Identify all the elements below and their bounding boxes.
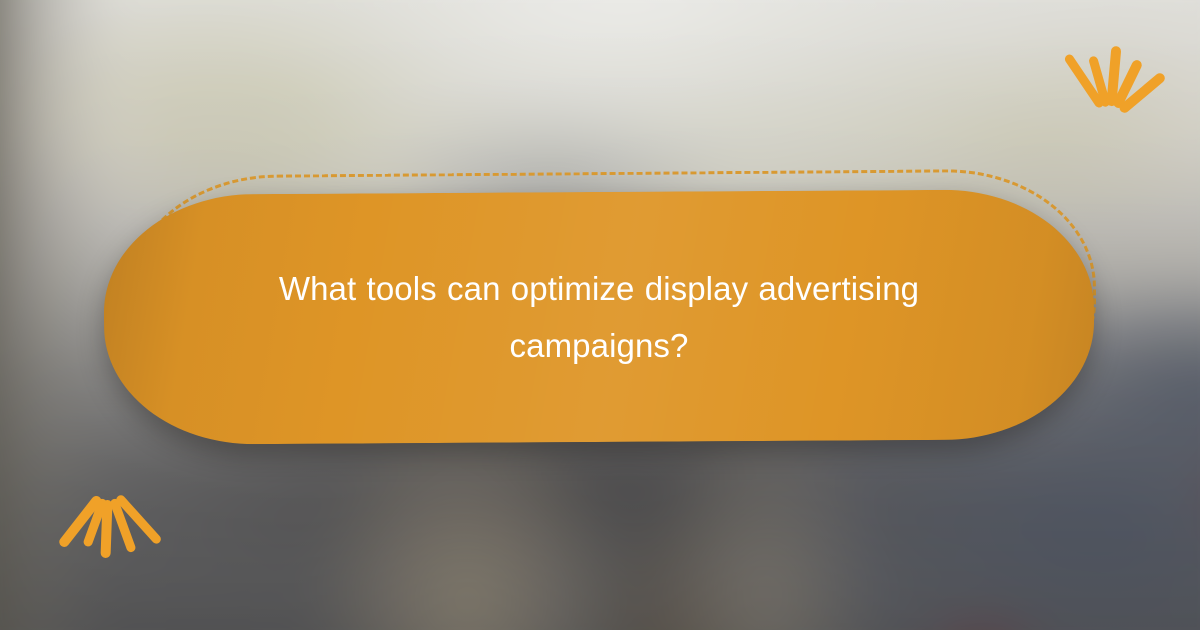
question-card-inner: What tools can optimize display advertis…	[204, 260, 994, 374]
question-card: What tools can optimize display advertis…	[103, 189, 1095, 445]
question-title: What tools can optimize display advertis…	[204, 260, 994, 374]
social-card-canvas: What tools can optimize display advertis…	[0, 0, 1200, 630]
